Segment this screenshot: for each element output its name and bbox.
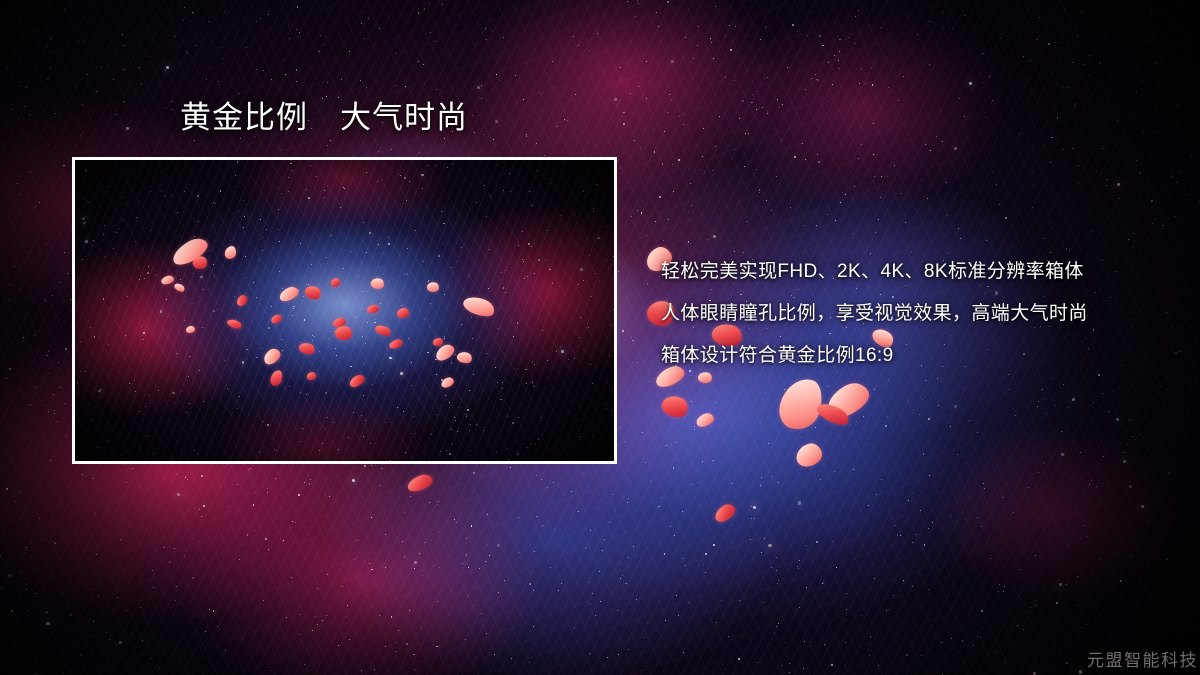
watermark: 元盟智能科技 bbox=[1087, 646, 1198, 671]
frame-image-vignette bbox=[75, 160, 614, 461]
page-title: 黄金比例 大气时尚 bbox=[180, 100, 468, 136]
body-line-1: 轻松完美实现FHD、2K、4K、8K标准分辨率箱体 bbox=[661, 258, 1088, 300]
body-line-3: 箱体设计符合黄金比例16:9 bbox=[661, 342, 1088, 384]
framed-nebula-image bbox=[72, 157, 617, 464]
slide-canvas: 黄金比例 大气时尚 轻松完美实现FHD、2K、4K、8K标准分辨率箱体 人体眼睛… bbox=[0, 0, 1200, 675]
body-text-block: 轻松完美实现FHD、2K、4K、8K标准分辨率箱体 人体眼睛瞳孔比例，享受视觉效… bbox=[661, 258, 1088, 384]
body-line-2: 人体眼睛瞳孔比例，享受视觉效果，高端大气时尚 bbox=[661, 300, 1088, 342]
